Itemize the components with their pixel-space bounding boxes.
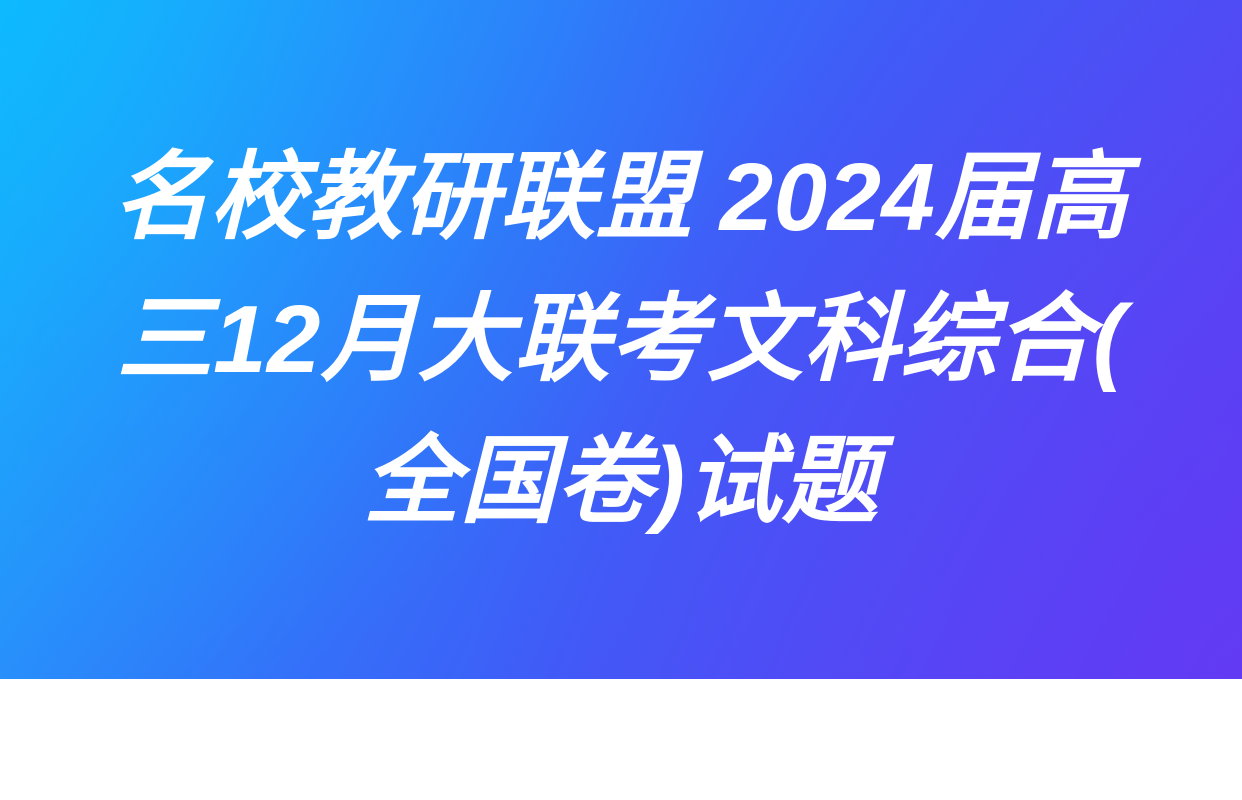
- poster-title-block: 名校教研联盟 2024届高 三12月大联考文科综合( 全国卷)试题: [0, 0, 1242, 679]
- poster-root: 名校教研联盟 2024届高 三12月大联考文科综合( 全国卷)试题 答案解析网A…: [0, 0, 1242, 800]
- poster-title-line-1: 名校教研联盟 2024届高: [114, 127, 1129, 269]
- poster-title-line-3: 全国卷)试题: [364, 411, 879, 553]
- poster-title-line-2: 三12月大联考文科综合(: [117, 269, 1126, 411]
- app-brand-label: 答案解析网APP: [464, 718, 778, 762]
- footer-brand-band: 答案解析网APP: [0, 679, 1242, 800]
